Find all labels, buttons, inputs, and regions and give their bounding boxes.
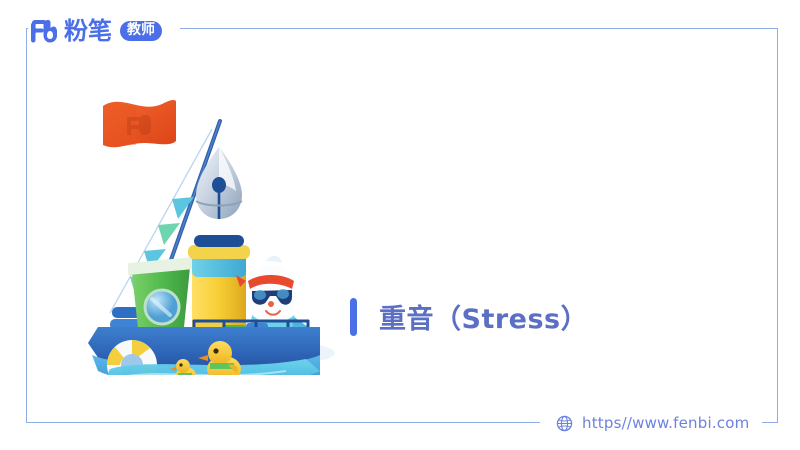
brand-name: 粉笔 bbox=[64, 19, 112, 43]
title-accent-bar bbox=[350, 298, 357, 336]
slide-canvas: 粉笔 教师 bbox=[0, 0, 800, 450]
page-title: 重音（Stress） bbox=[379, 297, 588, 336]
footer-website[interactable]: https//www.fenbi.com bbox=[556, 411, 749, 435]
slide-title-block: 重音（Stress） bbox=[350, 297, 588, 336]
brand-badge: 教师 bbox=[120, 21, 162, 41]
footer-url-text: https//www.fenbi.com bbox=[582, 414, 749, 432]
brand-logo: 粉笔 教师 bbox=[30, 17, 162, 45]
flag bbox=[103, 100, 176, 147]
fenbi-logo-icon bbox=[30, 19, 57, 43]
boat-illustration bbox=[70, 85, 350, 375]
globe-icon bbox=[556, 415, 573, 432]
